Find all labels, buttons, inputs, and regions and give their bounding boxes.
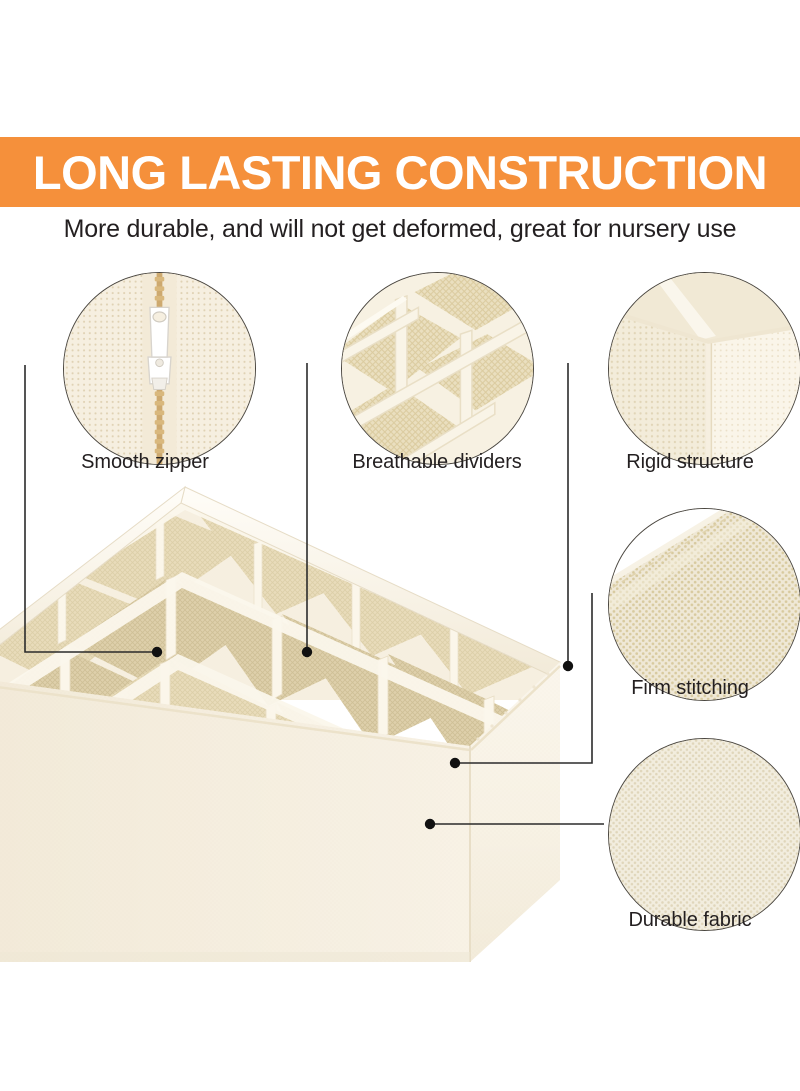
fabric-weave-closeup-icon	[608, 738, 800, 931]
callout-label-dividers: Breathable dividers	[312, 450, 562, 474]
leader-dot-stitching	[450, 758, 460, 768]
stitched-edge-closeup-icon	[608, 508, 800, 701]
callout-label-fabric: Durable fabric	[565, 908, 800, 932]
mesh-dividers-closeup-icon	[341, 272, 534, 465]
leader-dot-rigid	[563, 661, 573, 671]
callout-label-stitching: Firm stitching	[565, 676, 800, 700]
header-banner: LONG LASTING CONSTRUCTION	[0, 137, 800, 207]
rigid-corner-closeup-icon	[608, 272, 800, 465]
leader-dot-fabric	[425, 819, 435, 829]
callout-label-rigid: Rigid structure	[565, 450, 800, 474]
zipper-closeup-icon	[63, 272, 256, 465]
subtitle-text: More durable, and will not get deformed,…	[0, 214, 800, 244]
leader-dot-dividers	[302, 647, 312, 657]
leader-dot-zipper	[152, 647, 162, 657]
banner-title: LONG LASTING CONSTRUCTION	[33, 149, 767, 196]
callout-label-zipper: Smooth zipper	[20, 450, 270, 474]
